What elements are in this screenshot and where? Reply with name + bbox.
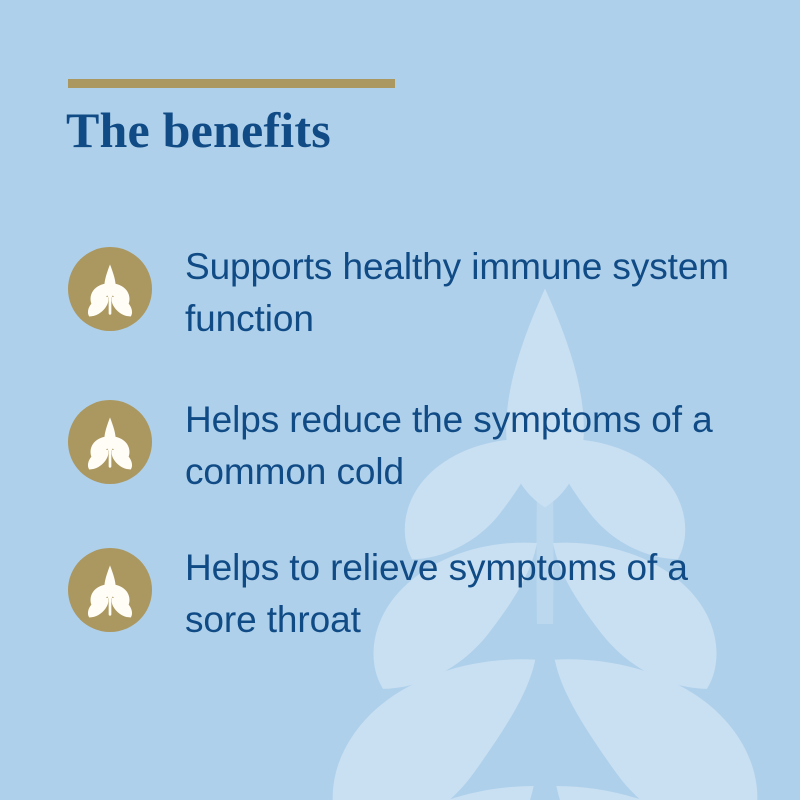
- wheat-leaf-icon: [68, 400, 152, 484]
- list-item: Supports healthy immune system function: [68, 241, 768, 345]
- gold-divider-rule: [68, 79, 395, 88]
- benefit-text: Helps to relieve symptoms of a sore thro…: [185, 542, 745, 646]
- benefit-text: Supports healthy immune system function: [185, 241, 745, 345]
- list-item: Helps reduce the symptoms of a common co…: [68, 394, 768, 498]
- benefit-text: Helps reduce the symptoms of a common co…: [185, 394, 745, 498]
- page-title: The benefits: [66, 101, 331, 159]
- benefits-card: The benefits Supports healthy immune sys…: [0, 0, 800, 800]
- wheat-leaf-icon: [68, 247, 152, 331]
- wheat-leaf-icon: [68, 548, 152, 632]
- list-item: Helps to relieve symptoms of a sore thro…: [68, 542, 768, 646]
